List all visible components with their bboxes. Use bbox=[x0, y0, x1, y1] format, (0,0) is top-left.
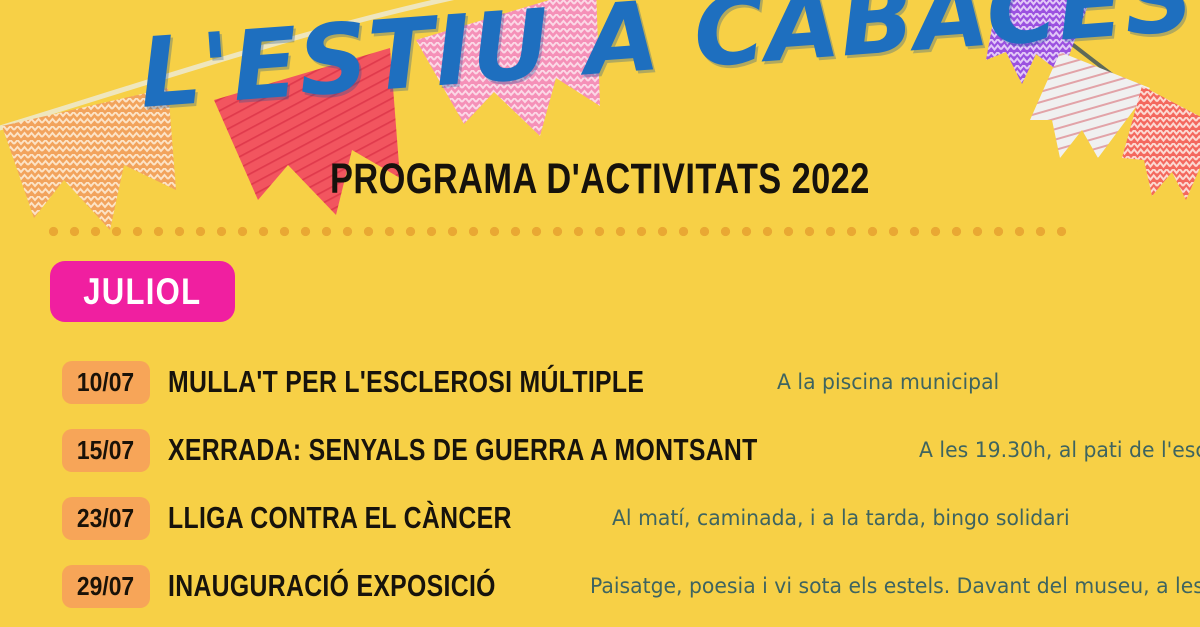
list-item: 15/07 XERRADA: SENYALS DE GUERRA A MONTS… bbox=[0, 416, 1200, 484]
date-badge: 10/07 bbox=[62, 361, 150, 404]
event-note: Paisatge, poesia i vi sota els estels. D… bbox=[590, 574, 1200, 598]
list-item bbox=[0, 620, 1200, 627]
page-title: L'ESTIU A CABACÉS bbox=[136, 0, 1041, 125]
list-item: 10/07 MULLA'T PER L'ESCLEROSI MÚLTIPLE A… bbox=[0, 348, 1200, 416]
event-title: XERRADA: SENYALS DE GUERRA A MONTSANT bbox=[168, 432, 758, 468]
event-title: MULLA'T PER L'ESCLEROSI MÚLTIPLE bbox=[168, 364, 644, 400]
date-label: 15/07 bbox=[77, 435, 134, 466]
date-badge: 23/07 bbox=[62, 497, 150, 540]
dotted-divider bbox=[48, 226, 1078, 237]
month-badge-juliol: JULIOL bbox=[50, 261, 235, 322]
event-list: 10/07 MULLA'T PER L'ESCLEROSI MÚLTIPLE A… bbox=[0, 348, 1200, 627]
date-label: 23/07 bbox=[77, 503, 134, 534]
page-subtitle: PROGRAMA D'ACTIVITATS 2022 bbox=[330, 155, 870, 204]
date-badge: 29/07 bbox=[62, 565, 150, 608]
event-note: A les 19.30h, al pati de l'escola bbox=[919, 438, 1200, 462]
poster-canvas: L'ESTIU A CABACÉS PROGRAMA D'ACTIVITATS … bbox=[0, 0, 1200, 627]
date-badge: 15/07 bbox=[62, 429, 150, 472]
date-label: 29/07 bbox=[77, 571, 134, 602]
event-note: A la piscina municipal bbox=[777, 370, 999, 394]
event-title: INAUGURACIÓ EXPOSICIÓ bbox=[168, 568, 496, 604]
list-item: 29/07 INAUGURACIÓ EXPOSICIÓ Paisatge, po… bbox=[0, 552, 1200, 620]
event-note: Al matí, caminada, i a la tarda, bingo s… bbox=[612, 506, 1070, 530]
list-item: 23/07 LLIGA CONTRA EL CÀNCER Al matí, ca… bbox=[0, 484, 1200, 552]
month-badge-label: JULIOL bbox=[83, 271, 201, 313]
poster-header: L'ESTIU A CABACÉS PROGRAMA D'ACTIVITATS … bbox=[0, 0, 1200, 215]
event-title: LLIGA CONTRA EL CÀNCER bbox=[168, 500, 512, 536]
date-label: 10/07 bbox=[77, 367, 134, 398]
